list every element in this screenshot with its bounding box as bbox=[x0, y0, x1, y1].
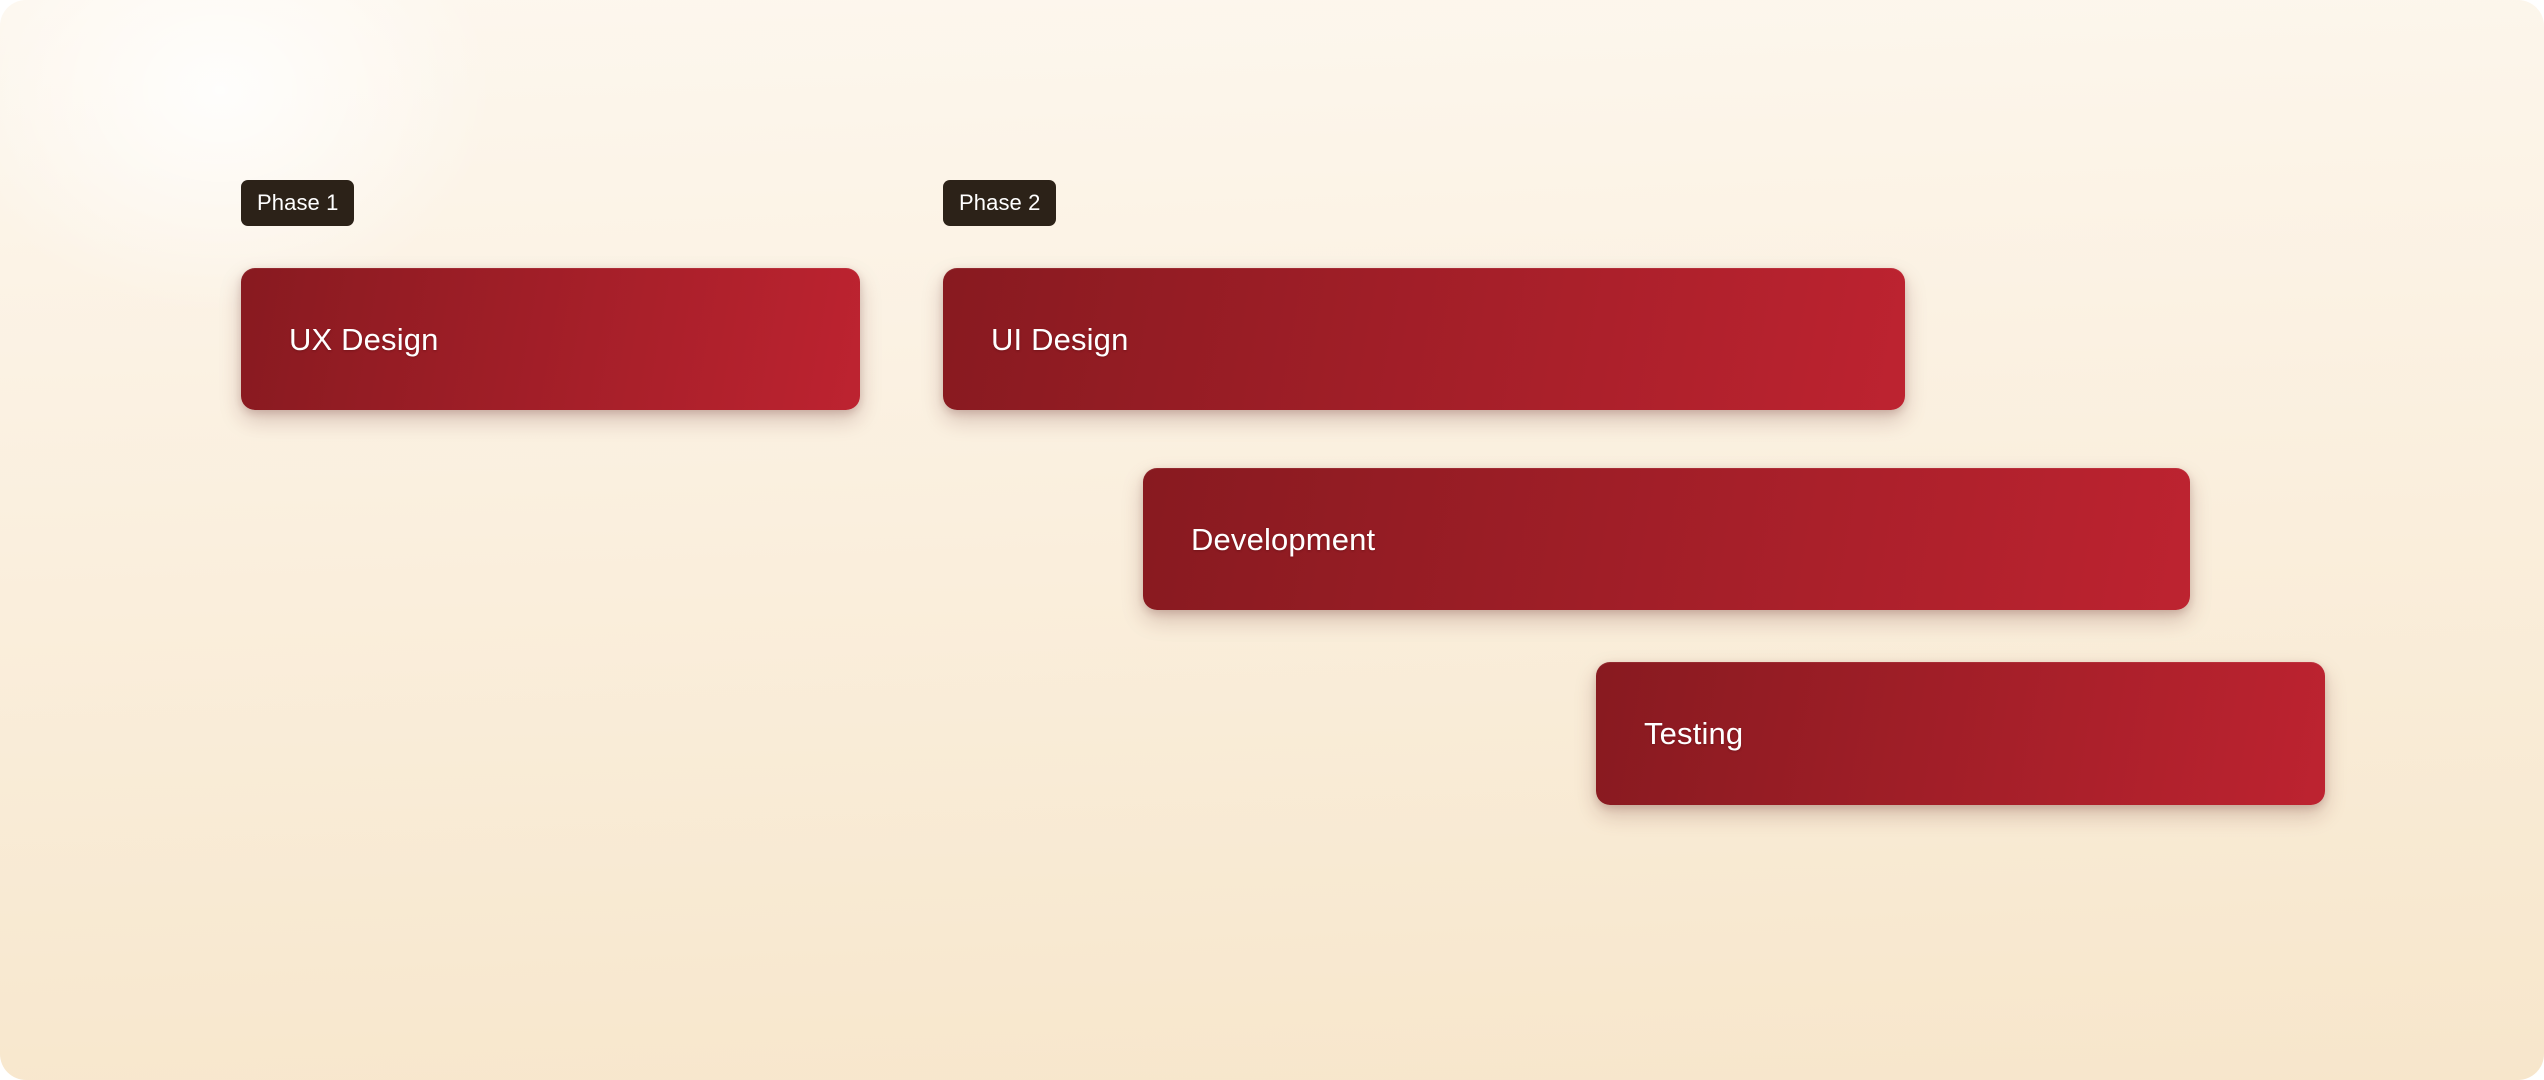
phase-badge-label: Phase 2 bbox=[959, 192, 1040, 214]
task-bar-label: UX Design bbox=[241, 324, 439, 355]
phase-badge-label: Phase 1 bbox=[257, 192, 338, 214]
task-bar-testing[interactable]: Testing bbox=[1596, 662, 2325, 805]
phase-badge-2[interactable]: Phase 2 bbox=[943, 180, 1056, 226]
gantt-board: Phase 1 Phase 2 UX Design UI Design Deve… bbox=[0, 0, 2544, 1080]
task-bar-ux-design[interactable]: UX Design bbox=[241, 268, 860, 410]
phase-badge-1[interactable]: Phase 1 bbox=[241, 180, 354, 226]
task-bar-label: Testing bbox=[1596, 718, 1743, 749]
task-bar-development[interactable]: Development bbox=[1143, 468, 2190, 610]
task-bar-ui-design[interactable]: UI Design bbox=[943, 268, 1905, 410]
task-bar-label: Development bbox=[1143, 524, 1375, 555]
task-bar-label: UI Design bbox=[943, 324, 1128, 355]
